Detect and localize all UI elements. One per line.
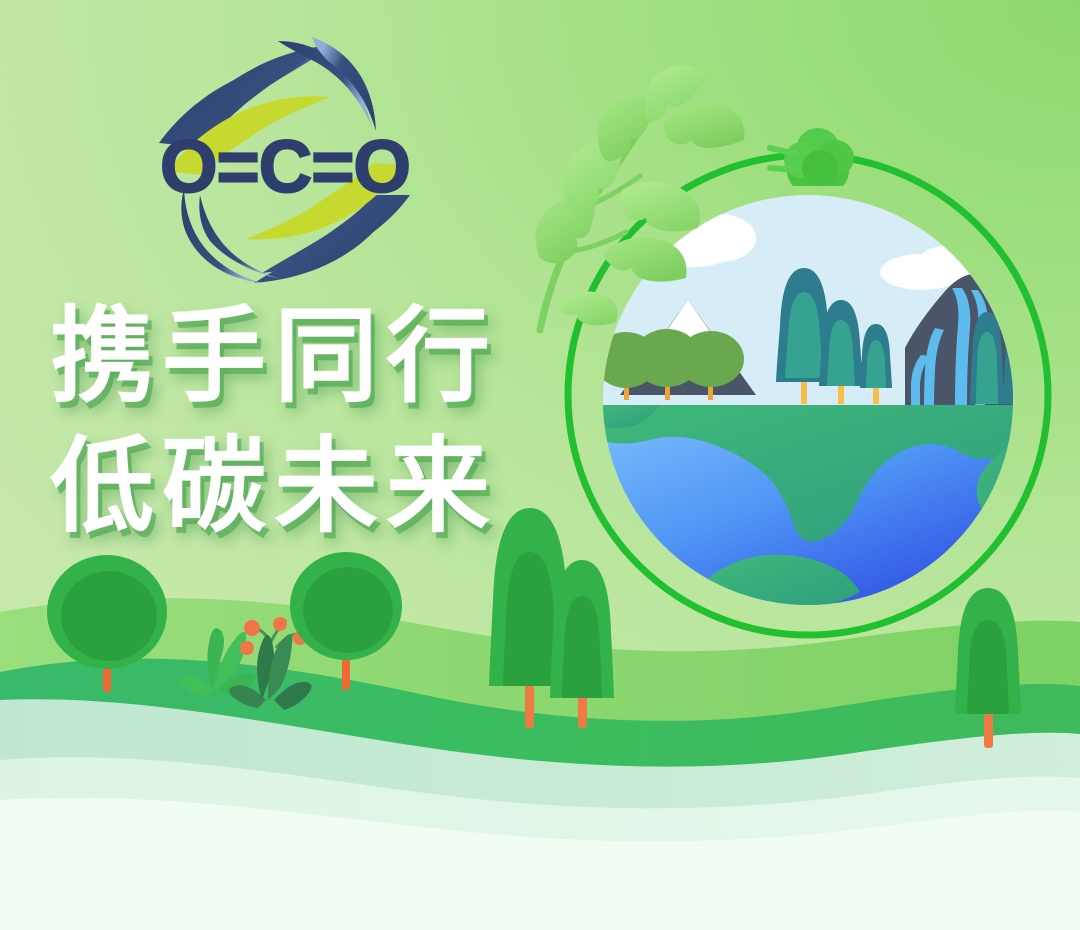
headline-block: 携手同行 低碳未来 — [50, 292, 520, 552]
berry — [273, 617, 287, 631]
poster-canvas: O=C=O 携手同行 低碳未来 — [0, 0, 1080, 930]
round-tree-mid — [290, 552, 402, 690]
co2-molecule-logo: O=C=O — [140, 35, 430, 285]
headline-line-1: 携手同行 — [50, 292, 520, 422]
conifer-short — [550, 560, 614, 728]
round-tree-left — [47, 555, 167, 692]
logo-formula-text: O=C=O — [140, 130, 430, 204]
berry — [244, 620, 260, 636]
berry — [240, 641, 254, 655]
grass-tuft — [180, 628, 255, 696]
headline-line-2: 低碳未来 — [50, 422, 520, 552]
conifer-right — [955, 588, 1021, 748]
